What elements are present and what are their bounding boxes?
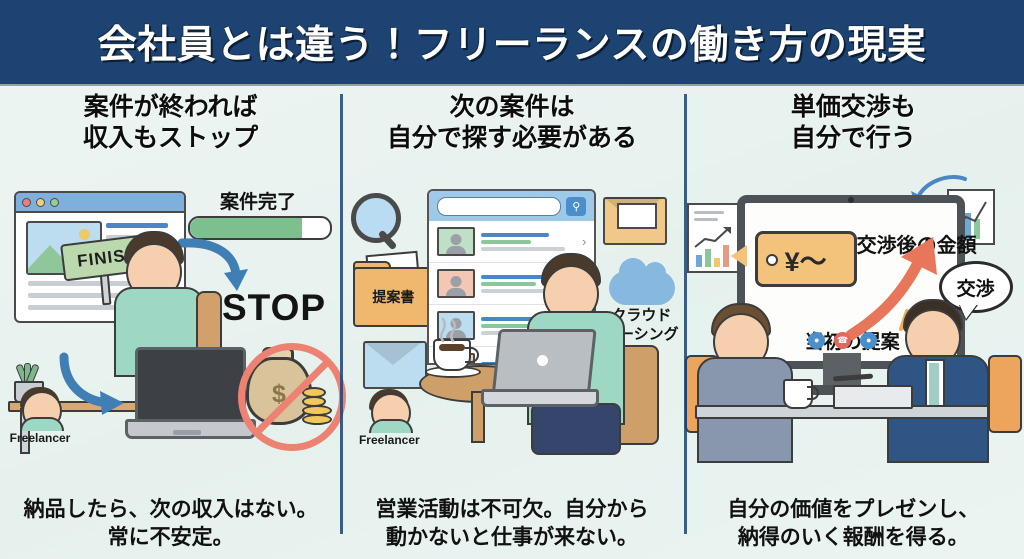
monitor-stand — [823, 353, 861, 387]
curved-arrow-icon-2 — [58, 351, 132, 417]
list-item-text — [481, 233, 576, 251]
stop-text: STOP — [222, 287, 326, 329]
column-negotiate-rate: 単価交渉も 自分で行う — [683, 84, 1024, 559]
close-icon — [22, 198, 31, 207]
browser-titlebar — [16, 193, 184, 213]
coffee — [439, 344, 465, 351]
bar — [696, 255, 702, 267]
column-income-stops: 案件が終われば 収入もストップ — [0, 84, 341, 559]
text-line — [694, 218, 718, 221]
column-1-caption-line2: 常に不安定。 — [0, 524, 341, 551]
column-1-heading-line1: 案件が終われば — [0, 92, 341, 123]
column-divider-2 — [684, 94, 687, 534]
column-3-illustration: ¥〜 交渉後の金額 当初の提案 ● — [683, 179, 1024, 459]
coffee-cup-icon — [783, 379, 813, 409]
speech-bubble-label: 交渉 — [957, 274, 995, 301]
mic-icon[interactable]: ● — [808, 332, 825, 349]
bar — [714, 258, 720, 267]
progress-label: 案件完了 — [193, 187, 323, 214]
prohibition-slash — [255, 359, 331, 435]
page-title: 会社員とは違う！フリーランスの働き方の現実 — [98, 14, 927, 70]
cup-handle — [807, 386, 819, 400]
text-line — [106, 223, 168, 228]
envelope-flap — [363, 341, 423, 365]
avatar-label: Freelancer — [339, 433, 439, 447]
minimize-icon — [36, 198, 45, 207]
avatar-label: Freelancer — [0, 431, 90, 445]
column-1-heading-line2: 収入もストップ — [0, 123, 341, 154]
price-tag-label: ¥〜 — [785, 240, 827, 279]
search-input[interactable] — [437, 197, 561, 216]
prohibition-icon — [238, 343, 346, 451]
speech-bubble-tail — [959, 303, 978, 319]
end-call-icon[interactable]: ☎ — [834, 332, 851, 349]
cloud-icon — [609, 271, 675, 305]
legs — [531, 403, 621, 455]
bar — [705, 249, 711, 267]
bar — [723, 245, 729, 267]
necktie — [929, 363, 939, 407]
column-2-caption-line1: 営業活動は不可欠。自分から — [341, 496, 682, 523]
column-3-heading: 単価交渉も 自分で行う — [683, 92, 1024, 153]
price-tag-hole — [766, 254, 778, 266]
avatar — [365, 385, 413, 433]
columns-container: 案件が終われば 収入もストップ — [0, 84, 1024, 559]
column-2-heading-line2: 自分で探す必要がある — [341, 123, 682, 154]
magnifier-glass — [351, 193, 401, 243]
search-button-icon[interactable]: ⚲ — [566, 197, 586, 216]
column-3-caption-line1: 自分の価値をプレゼンし、 — [683, 496, 1024, 523]
column-3-heading-line2: 自分で行う — [683, 123, 1024, 154]
steam-icon — [433, 313, 463, 343]
column-2-caption: 営業活動は不可欠。自分から 動かないと仕事が来ない。 — [341, 496, 682, 551]
price-tag-tip — [731, 245, 747, 267]
column-3-caption-line2: 納得のいく報酬を得る。 — [683, 524, 1024, 551]
maximize-icon — [50, 198, 59, 207]
curved-arrow-icon — [178, 235, 248, 295]
coffee-cup-icon — [433, 339, 471, 371]
webcam-icon — [848, 197, 854, 203]
header-band: 会社員とは違う！フリーランスの働き方の現実 — [0, 0, 1024, 84]
avatar-thumb — [437, 227, 475, 256]
proposal-folder-icon: 提案書 — [353, 259, 433, 323]
avatar-thumb — [437, 269, 475, 298]
video-call-controls[interactable]: ● ☎ ● — [795, 329, 891, 351]
column-find-next-job: 次の案件は 自分で探す必要がある 提案書 — [341, 84, 682, 559]
text-line — [28, 305, 128, 310]
letter — [617, 203, 657, 229]
shoulders — [369, 419, 413, 433]
text-line — [694, 211, 724, 214]
column-1-illustration: FINISH 案件完了 STOP — [0, 179, 341, 459]
column-2-illustration: 提案書 ⚲ › — [341, 179, 682, 459]
infographic-page: 会社員とは違う！フリーランスの働き方の現実 案件が終われば 収入もストップ — [0, 0, 1024, 559]
laptop-base — [125, 419, 256, 439]
chevron-right-icon[interactable]: › — [582, 234, 586, 249]
mail-icon — [603, 197, 667, 245]
column-1-caption: 納品したら、次の収入はない。 常に不安定。 — [0, 496, 341, 551]
mail-icon-2 — [363, 341, 427, 389]
sun-icon — [79, 229, 90, 240]
column-3-heading-line1: 単価交渉も — [683, 92, 1024, 123]
chair — [988, 355, 1022, 433]
speaker-icon[interactable]: ● — [860, 332, 877, 349]
chair — [196, 291, 222, 355]
laptop-closed-icon — [125, 347, 250, 439]
column-divider-1 — [340, 94, 343, 534]
laptop-trackpad — [173, 430, 201, 435]
folder-label: 提案書 — [353, 287, 433, 307]
laptop-base — [481, 389, 599, 407]
laptop-open-icon — [481, 329, 591, 407]
column-2-heading-line1: 次の案件は — [341, 92, 682, 123]
column-1-caption-line1: 納品したら、次の収入はない。 — [0, 496, 341, 523]
avatar — [16, 383, 64, 431]
job-search-bar[interactable]: ⚲ — [429, 191, 594, 221]
column-2-heading: 次の案件は 自分で探す必要がある — [341, 92, 682, 153]
no-money-icon — [238, 339, 338, 439]
search-icon — [351, 193, 407, 249]
column-3-caption: 自分の価値をプレゼンし、 納得のいく報酬を得る。 — [683, 496, 1024, 551]
keyboard-icon — [833, 385, 913, 409]
laptop-screen — [135, 347, 246, 425]
column-2-caption-line2: 動かないと仕事が来ない。 — [341, 524, 682, 551]
column-1-heading: 案件が終われば 収入もストップ — [0, 92, 341, 153]
shoulders — [20, 417, 64, 431]
